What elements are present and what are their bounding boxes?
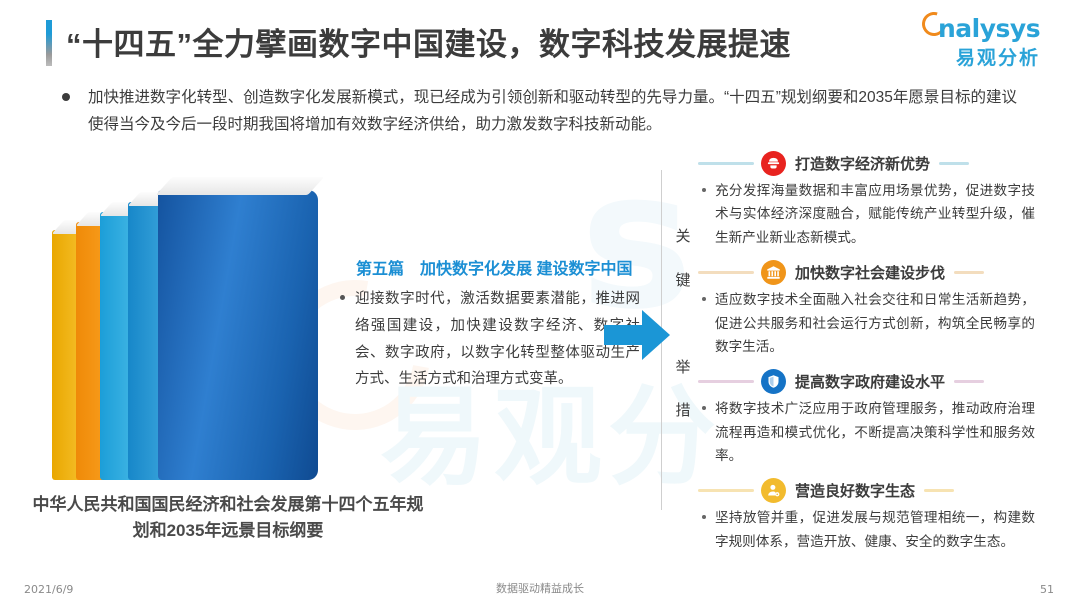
bullet-dot-icon [702,188,706,192]
section-divider-left [698,162,754,165]
bullet-dot-icon [702,406,706,410]
slide-root: s 易观分 “十四五”全力擘画数字中国建设，数字科技发展提速 nalysys 易… [0,0,1080,608]
section-divider-right [924,489,954,492]
section-body: 坚持放管并重，促进发展与规范管理相统一，构建数字规则体系，营造开放、健康、安全的… [698,506,1058,553]
section-title: 加快数字社会建设步伐 [793,262,947,283]
footer-slogan: 数据驱动精益成长 [0,580,1080,596]
middle-paragraph-text: 迎接数字时代，激活数据要素潜能，推进网络强国建设，加快建设数字经济、数字社会、数… [355,286,640,393]
section-divider-left [698,380,754,383]
section-body: 充分发挥海量数据和丰富应用场景优势，促进数字技术与实体经济深度融合，赋能传统产业… [698,179,1058,249]
section-text: 适应数字技术全面融入社会交往和日常生活新趋势，促进公共服务和社会运行方式创新，构… [715,288,1035,358]
logo-brand-text: nalysys [938,14,1040,43]
bullet-dot-icon [340,295,345,300]
bullet-dot-icon [702,515,706,519]
key-label-char: 键 [672,259,694,303]
logo-brand-cn-text: 易观分析 [956,43,1040,70]
section-divider-right [954,271,984,274]
books-stack-icon [40,160,340,480]
section-header: 提高数字政府建设水平 [698,366,1058,396]
page-title: “十四五”全力擘画数字中国建设，数字科技发展提速 [66,19,791,64]
section-body: 将数字技术广泛应用于政府管理服务，推动政府治理流程再造和模式优化，不断提高决策科… [698,397,1058,467]
section-item: 营造良好数字生态 坚持放管并重，促进发展与规范管理相统一，构建数字规则体系，营造… [698,475,1058,553]
lead-paragraph: 加快推进数字化转型、创造数字化发展新模式，现已经成为引领创新和驱动转型的先导力量… [62,84,1017,138]
key-label-char: 举 [672,346,694,390]
section-body: 适应数字技术全面融入社会交往和日常生活新趋势，促进公共服务和社会运行方式创新，构… [698,288,1058,358]
shield-icon [761,369,786,394]
key-measures-list: 打造数字经济新优势 充分发挥海量数据和丰富应用场景优势，促进数字技术与实体经济深… [698,148,1058,561]
section-title: 提高数字政府建设水平 [793,371,947,392]
section-text: 充分发挥海量数据和丰富应用场景优势，促进数字技术与实体经济深度融合，赋能传统产业… [715,179,1035,249]
book-item [158,190,318,480]
section-divider-right [954,380,984,383]
section-item: 加快数字社会建设步伐 适应数字技术全面融入社会交往和日常生活新趋势，促进公共服务… [698,257,1058,358]
lead-paragraph-text: 加快推进数字化转型、创造数字化发展新模式，现已经成为引领创新和驱动转型的先导力量… [88,84,1017,138]
section-item: 提高数字政府建设水平 将数字技术广泛应用于政府管理服务，推动政府治理流程再造和模… [698,366,1058,467]
section-item: 打造数字经济新优势 充分发挥海量数据和丰富应用场景优势，促进数字技术与实体经济深… [698,148,1058,249]
section-header: 打造数字经济新优势 [698,148,1058,178]
key-measures-label: 关 键 · 举 措 [672,215,694,433]
bullet-dot-icon [62,93,70,101]
user-settings-icon [761,478,786,503]
economy-badge-icon [761,151,786,176]
key-label-char: 关 [672,215,694,259]
analysys-logo: nalysys 易观分析 [924,12,1056,70]
key-label-char: 措 [672,389,694,433]
section-title: 营造良好数字生态 [793,480,917,501]
middle-heading: 第五篇 加快数字化发展 建设数字中国 [356,255,632,279]
footer-page-number: 51 [1040,583,1054,596]
middle-paragraph: 迎接数字时代，激活数据要素潜能，推进网络强国建设，加快建设数字经济、数字社会、数… [340,286,640,393]
section-text: 将数字技术广泛应用于政府管理服务，推动政府治理流程再造和模式优化，不断提高决策科… [715,397,1035,467]
bullet-dot-icon [702,297,706,301]
section-divider-left [698,271,754,274]
section-text: 坚持放管并重，促进发展与规范管理相统一，构建数字规则体系，营造开放、健康、安全的… [715,506,1035,553]
right-arrow-icon [604,308,670,362]
section-divider-right [939,162,969,165]
bank-building-icon [761,260,786,285]
title-accent-bar [46,20,52,66]
section-title: 打造数字经济新优势 [793,153,932,174]
illustration-caption: 中华人民共和国国民经济和社会发展第十四个五年规划和2035年远景目标纲要 [28,492,428,543]
section-divider-left [698,489,754,492]
section-header: 营造良好数字生态 [698,475,1058,505]
section-header: 加快数字社会建设步伐 [698,257,1058,287]
